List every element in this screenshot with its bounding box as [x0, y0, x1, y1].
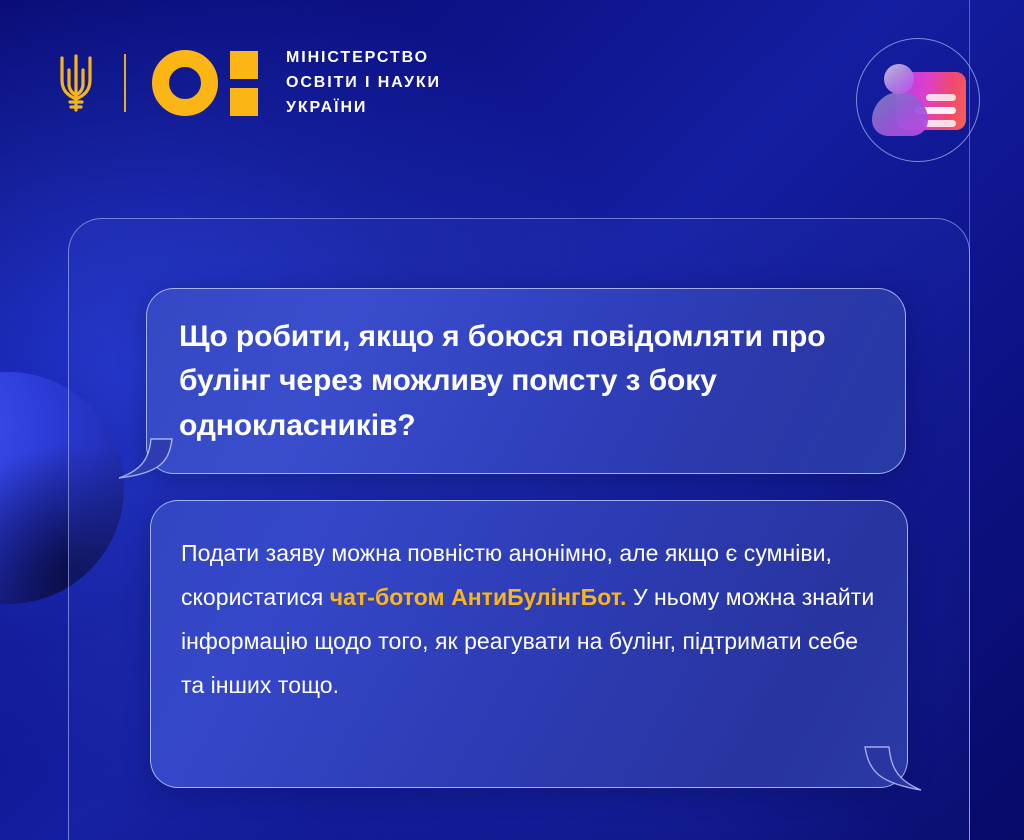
person-head-shape	[884, 64, 914, 94]
answer-bubble: Подати заяву можна повністю анонімно, ал…	[150, 500, 908, 788]
answer-bubble-tail	[863, 745, 925, 793]
ministry-line-2: ОСВІТИ І НАУКИ	[286, 71, 441, 96]
mon-o-mark	[152, 50, 258, 116]
logo-divider	[124, 54, 126, 112]
profile-card-icon	[870, 64, 966, 136]
question-bubble: Що робити, якщо я боюся повідомляти про …	[146, 288, 906, 474]
question-text: Що робити, якщо я боюся повідомляти про …	[179, 315, 883, 448]
card-line-1	[926, 94, 956, 101]
mon-square-bottom	[230, 88, 258, 116]
answer-text: Подати заяву можна повністю анонімно, ал…	[181, 531, 881, 708]
answer-highlight-1: чат-ботом АнтиБулінгБот.	[330, 584, 627, 610]
ministry-line-1: МІНІСТЕРСТВО	[286, 46, 441, 71]
question-bubble-tail	[117, 437, 173, 481]
ministry-name: МІНІСТЕРСТВО ОСВІТИ І НАУКИ УКРАЇНИ	[286, 46, 441, 120]
profile-card-badge	[856, 38, 980, 162]
right-edge-seam	[969, 0, 970, 840]
infographic-poster: МІНІСТЕРСТВО ОСВІТИ І НАУКИ УКРАЇНИ Що р…	[0, 0, 1024, 840]
mon-ring-glyph	[152, 50, 218, 116]
ministry-logo-lockup: МІНІСТЕРСТВО ОСВІТИ І НАУКИ УКРАЇНИ	[54, 46, 441, 120]
mon-squares-glyph	[230, 51, 258, 116]
header: МІНІСТЕРСТВО ОСВІТИ І НАУКИ УКРАЇНИ	[0, 0, 1024, 180]
ministry-line-3: УКРАЇНИ	[286, 96, 441, 121]
mon-square-top	[230, 51, 258, 79]
ukraine-trident-emblem	[54, 50, 98, 116]
